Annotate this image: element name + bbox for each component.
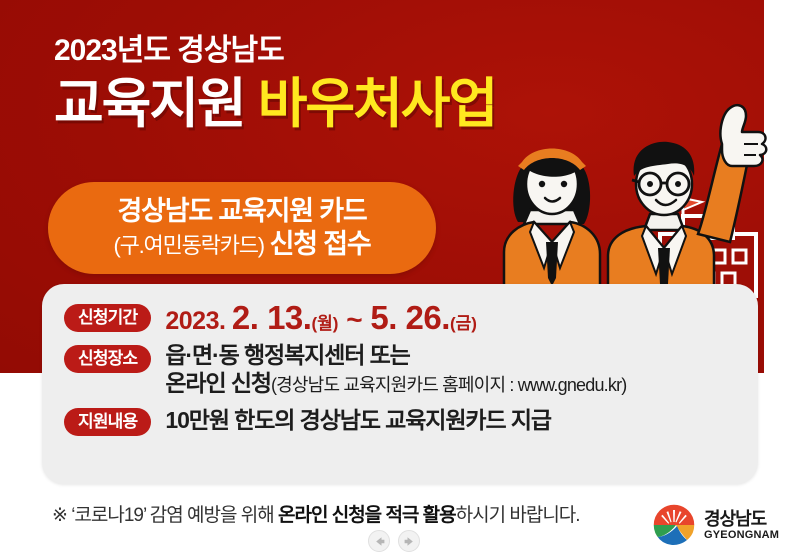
arrow-left-icon <box>373 535 386 548</box>
footnote-prefix: ※ ‘코로나19’ 감염 예방을 위해 <box>52 505 278 526</box>
poster-canvas: 2023년도 경상남도 교육지원 바우처사업 경상남도 교육지원 카드 (구.여… <box>0 0 800 554</box>
pill-former-name: (구.여민동락카드) <box>113 233 263 258</box>
place-offline-line: 읍·면·동 행정복지센터 또는 <box>165 341 736 369</box>
benefit-value: 10만원 한도의 경상남도 교육지원카드 지급 <box>165 404 736 435</box>
next-arrow-button[interactable] <box>398 530 420 552</box>
footnote-emphasis: 온라인 신청을 적극 활용 <box>278 505 456 526</box>
period-separator: ~ <box>338 304 370 335</box>
arrow-right-icon <box>403 535 416 548</box>
headline-main-yellow: 바우처사업 <box>258 74 496 134</box>
pill-line-primary: 경상남도 교육지원 카드 <box>117 196 366 226</box>
benefit-body: 10만원 한도의 경상남도 교육지원카드 지급 <box>165 404 736 435</box>
tag-benefit: 지원내용 <box>64 408 151 436</box>
logo-name-english: GYEONGNAM <box>704 530 779 541</box>
info-row-period: 신청기간 2023. 2. 13.(월) ~ 5. 26.(금) <box>64 300 736 334</box>
carousel-nav <box>368 530 420 552</box>
gyeongnam-emblem-icon <box>652 503 696 547</box>
period-end-date: 5. 26. <box>370 299 450 336</box>
place-online-line: 온라인 신청(경상남도 교육지원카드 홈페이지 : www.gnedu.kr) <box>165 369 736 397</box>
pill-line-secondary: (구.여민동락카드) 신청 접수 <box>113 228 370 260</box>
place-body: 읍·면·동 행정복지센터 또는 온라인 신청(경상남도 교육지원카드 홈페이지 … <box>165 341 736 397</box>
headline-subtitle: 2023년도 경상남도 <box>54 36 496 66</box>
tag-place: 신청장소 <box>64 345 151 373</box>
logo-name-korean: 경상남도 <box>704 510 779 528</box>
tag-period: 신청기간 <box>64 304 151 332</box>
period-value: 2023. 2. 13.(월) ~ 5. 26.(금) <box>165 300 736 334</box>
pill-action-label: 신청 접수 <box>270 229 371 259</box>
girl-student-figure <box>504 149 600 305</box>
period-end-weekday: (금) <box>450 314 477 333</box>
period-start-date: 2. 13. <box>232 299 312 336</box>
logo-text-block: 경상남도 GYEONGNAM <box>704 510 779 541</box>
illustration-svg <box>500 92 800 304</box>
students-illustration <box>500 92 800 304</box>
footnote-suffix: 하시기 바랍니다. <box>456 505 580 526</box>
period-body: 2023. 2. 13.(월) ~ 5. 26.(금) <box>165 300 736 334</box>
card-name-pill: 경상남도 교육지원 카드 (구.여민동락카드) 신청 접수 <box>48 182 436 274</box>
footnote: ※ ‘코로나19’ 감염 예방을 위해 온라인 신청을 적극 활용하시기 바랍니… <box>52 500 580 527</box>
gyeongnam-logo: 경상남도 GYEONGNAM <box>652 503 779 547</box>
period-start-weekday: (월) <box>311 314 338 333</box>
place-online-bold: 온라인 신청 <box>165 370 271 396</box>
headline-main-white: 교육지원 <box>54 74 245 134</box>
headline-block: 2023년도 경상남도 교육지원 바우처사업 <box>54 36 496 132</box>
headline-main: 교육지원 바우처사업 <box>54 76 496 132</box>
info-row-benefit: 지원내용 10만원 한도의 경상남도 교육지원카드 지급 <box>64 404 736 436</box>
info-row-place: 신청장소 읍·면·동 행정복지센터 또는 온라인 신청(경상남도 교육지원카드 … <box>64 341 736 397</box>
place-online-note: (경상남도 교육지원카드 홈페이지 : www.gnedu.kr) <box>271 375 627 395</box>
info-card: 신청기간 2023. 2. 13.(월) ~ 5. 26.(금) 신청장소 읍·… <box>42 284 758 484</box>
prev-arrow-button[interactable] <box>368 530 390 552</box>
period-year: 2023. <box>165 307 232 335</box>
